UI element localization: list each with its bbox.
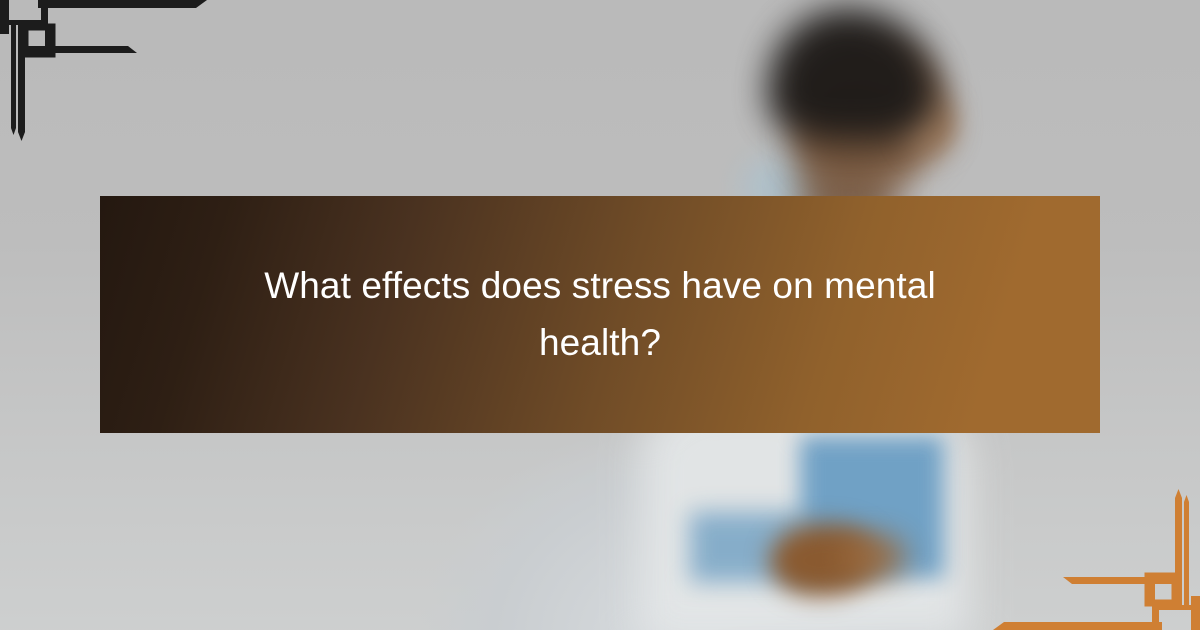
corner-ornament-top-left-icon: [0, 0, 230, 165]
question-banner: What effects does stress have on mental …: [100, 196, 1100, 433]
question-text: What effects does stress have on mental …: [255, 258, 945, 370]
graphic-canvas: What effects does stress have on mental …: [0, 0, 1200, 630]
corner-ornament-bottom-right-icon: [970, 465, 1200, 630]
photo-subject-wrist: [840, 534, 906, 580]
